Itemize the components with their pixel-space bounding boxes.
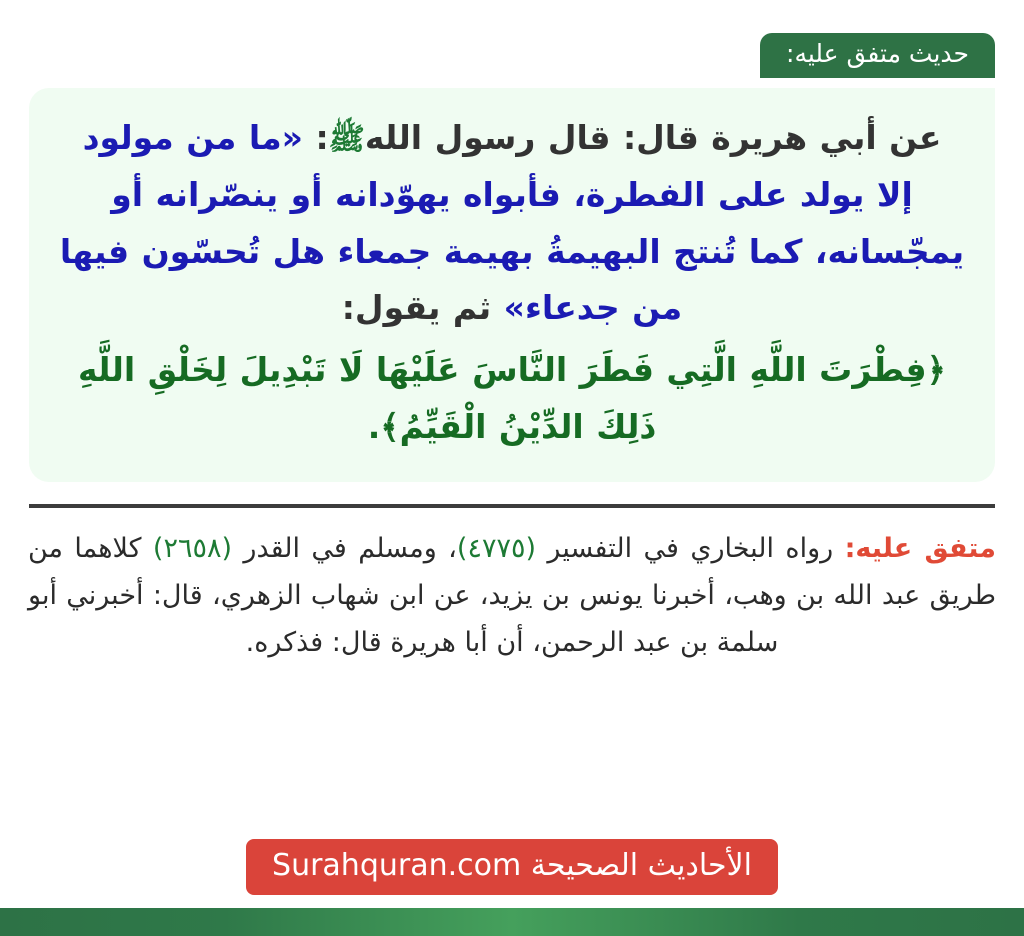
footer-badge-row: الأحاديث الصحيحة Surahquran.com <box>0 839 1024 908</box>
bukhari-reference-number: (٤٧٧٥) <box>457 533 536 564</box>
intro-colon: : <box>315 118 328 157</box>
header-row: حديث متفق عليه: <box>0 0 1024 88</box>
hadith-grade-badge: حديث متفق عليه: <box>760 33 995 78</box>
muslim-reference-number: (٢٦٥٨) <box>153 533 232 564</box>
hadith-card: حديث متفق عليه: عن أبي هريرة قال: قال رس… <box>0 0 1024 936</box>
quran-verse: ﴿فِطْرَتَ اللَّهِ الَّتِي فَطَرَ النَّاس… <box>59 341 965 456</box>
takhrij-part-one: رواه البخاري في التفسير <box>547 533 833 564</box>
narrator-intro: عن أبي هريرة قال: قال رسول الله <box>365 118 942 157</box>
divider-wrap <box>0 482 1024 508</box>
takhrij-paragraph: متفق عليه: رواه البخاري في التفسير (٤٧٧٥… <box>28 526 996 667</box>
sallallahu-alayhi-wasallam-icon: ﷺ <box>329 122 365 157</box>
site-branding-badge[interactable]: الأحاديث الصحيحة Surahquran.com <box>246 839 778 895</box>
footer-color-bar <box>0 908 1024 936</box>
takhrij-label: متفق عليه: <box>845 533 996 564</box>
takhrij-part-two: ، ومسلم في القدر <box>243 533 456 564</box>
hadith-body: عن أبي هريرة قال: قال رسول اللهﷺ: «ما من… <box>59 110 965 456</box>
hadith-text-box: عن أبي هريرة قال: قال رسول اللهﷺ: «ما من… <box>29 88 995 482</box>
then-says-text: ثم يقول: <box>342 288 491 327</box>
section-divider <box>29 504 995 508</box>
footer-area: الأحاديث الصحيحة Surahquran.com <box>0 839 1024 936</box>
